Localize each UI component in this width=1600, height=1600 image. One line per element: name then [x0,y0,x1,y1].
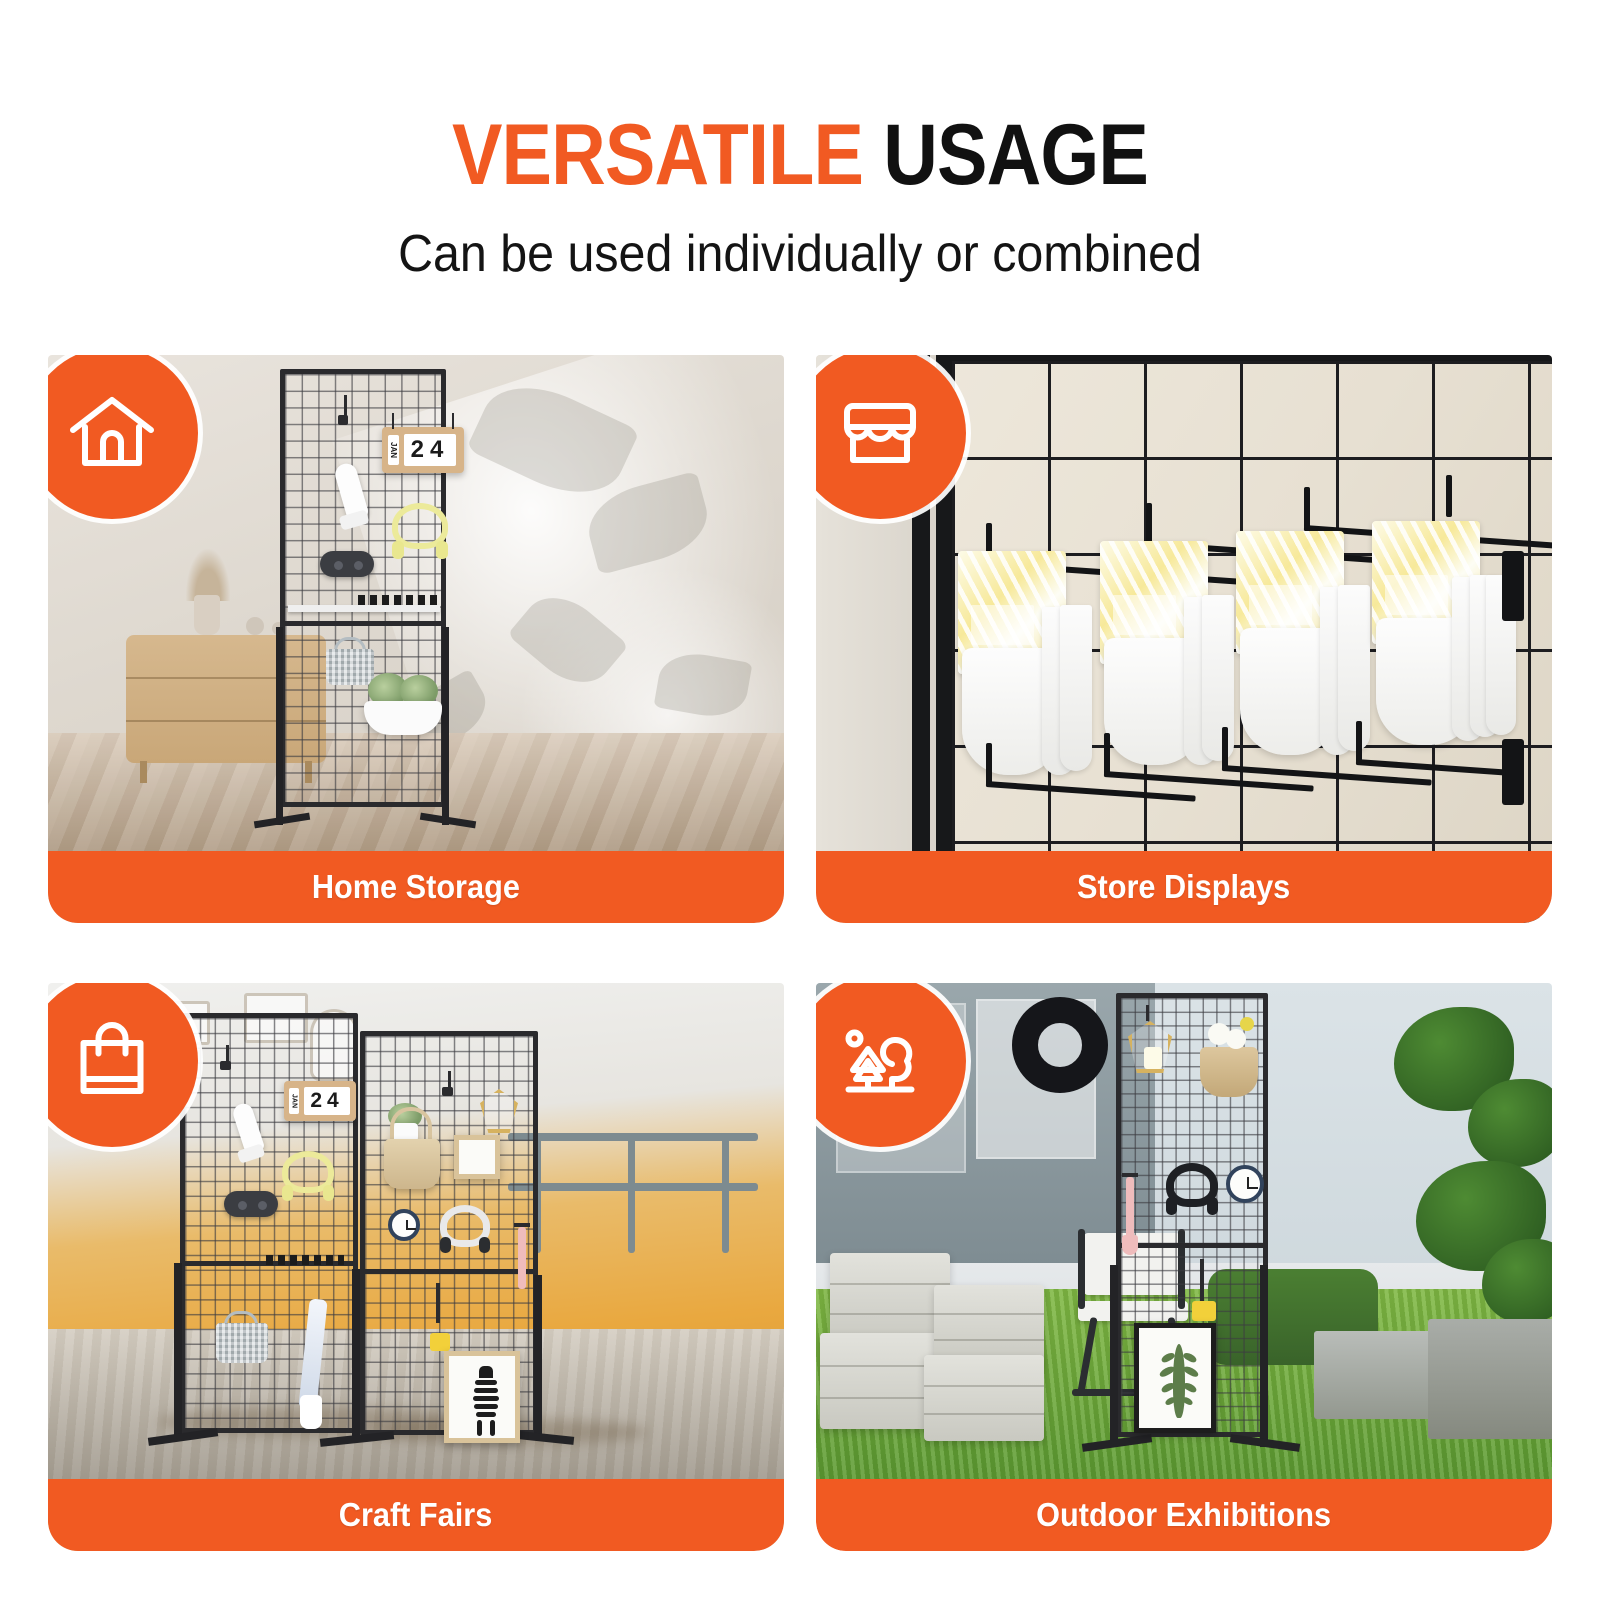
caption-bar-outdoor-exhibitions: Outdoor Exhibitions [816,1479,1552,1551]
caption-bar-craft-fairs: Craft Fairs [48,1479,784,1551]
title-main: USAGE [883,107,1148,203]
park-nature-icon [832,1013,928,1109]
zebra-poster [444,1351,520,1443]
pink-strap [1126,1177,1134,1239]
crate [830,1253,950,1345]
usage-card-grid: JAN 24 [48,355,1552,1551]
pink-bell [1122,1235,1138,1255]
caption-label: Outdoor Exhibitions [1037,1496,1332,1534]
grid-rack-panel-left [180,1013,358,1433]
infographic-page: VERSATILE USAGE Can be used individually… [0,0,1600,1600]
page-title: VERSATILE USAGE [96,112,1504,198]
flip-calendar: JAN 24 [382,427,464,473]
title-accent: VERSATILE [452,107,863,203]
crate [934,1285,1044,1365]
game-controller [320,551,374,577]
hook [1200,1259,1204,1301]
tote-handle [390,1107,432,1143]
caption-bar-home-storage: Home Storage [48,851,784,923]
decor-ring [1012,997,1108,1093]
hook [436,1283,440,1323]
usage-card-craft-fairs: JAN 24 [48,983,784,1551]
flower [1240,1017,1254,1031]
calendar-month: JAN [289,1088,299,1114]
tote-bag [384,1139,440,1189]
yellow-tag [430,1333,450,1351]
flower-basket [1200,1047,1258,1097]
pink-strap [518,1227,526,1289]
alarm-clock [388,1209,420,1241]
umbrella-handle [300,1395,322,1429]
hook [338,415,348,425]
leaf-poster [1134,1323,1216,1433]
storage-basket [216,1323,268,1363]
calendar-day: 24 [404,434,456,466]
caption-bar-store-displays: Store Displays [816,851,1552,923]
caption-label: Craft Fairs [339,1496,493,1534]
shopping-bag-icon [64,1013,160,1109]
washi-tape-strip [358,595,442,605]
house-icon [64,385,160,481]
alarm-clock [1226,1165,1264,1203]
header: VERSATILE USAGE Can be used individually… [0,0,1600,284]
large-planter [1428,1319,1552,1439]
washi-tape-strip [266,1255,344,1265]
usage-card-store-displays: Store Displays [816,355,1552,923]
hook [344,395,347,417]
grid-clip [1502,551,1524,621]
page-subtitle: Can be used individually or combined [56,224,1544,284]
shelf [288,605,440,612]
flower [1226,1029,1246,1049]
usage-card-outdoor-exhibitions: Outdoor Exhibitions [816,983,1552,1551]
display-hook [1446,475,1452,517]
calendar-month: JAN [388,435,399,465]
storefront-icon [832,385,928,481]
flip-calendar: JAN 24 [284,1081,356,1121]
crate [924,1355,1044,1441]
photo-print [454,1135,500,1179]
game-controller [224,1191,278,1217]
usage-card-home-storage: JAN 24 [48,355,784,923]
yellow-tag [1192,1301,1216,1321]
storage-basket [326,649,374,685]
caption-label: Store Displays [1077,868,1290,906]
caption-label: Home Storage [312,868,520,906]
calendar-day: 24 [304,1087,350,1115]
planter-box [364,701,442,735]
